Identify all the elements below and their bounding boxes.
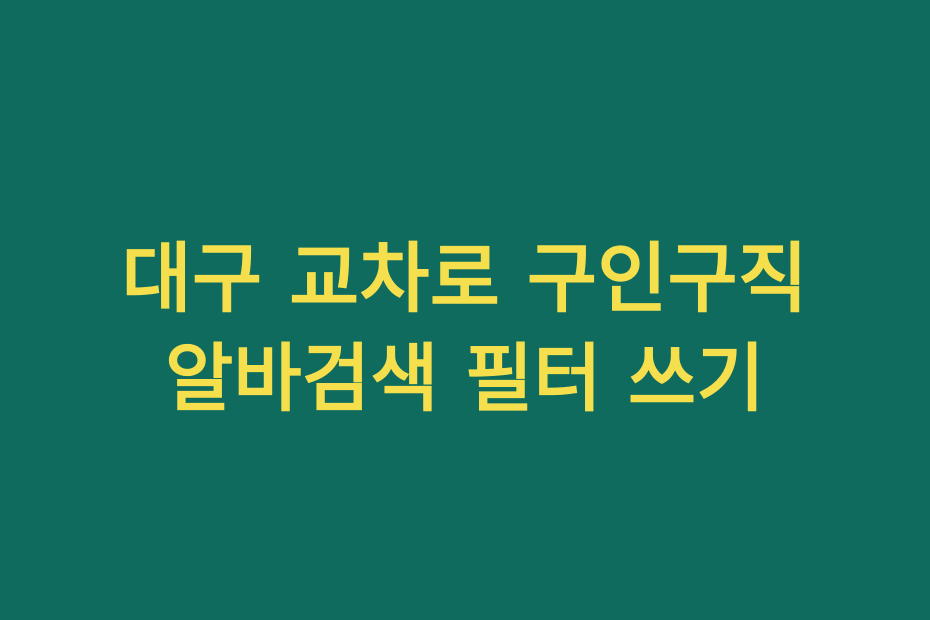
headline-line-2: 알바검색 필터 쓰기 <box>165 330 765 429</box>
banner-card: 대구 교차로 구인구직 알바검색 필터 쓰기 <box>0 0 930 620</box>
headline-line-1: 대구 교차로 구인구직 <box>122 228 808 330</box>
headline-block: 대구 교차로 구인구직 알바검색 필터 쓰기 <box>0 228 930 429</box>
